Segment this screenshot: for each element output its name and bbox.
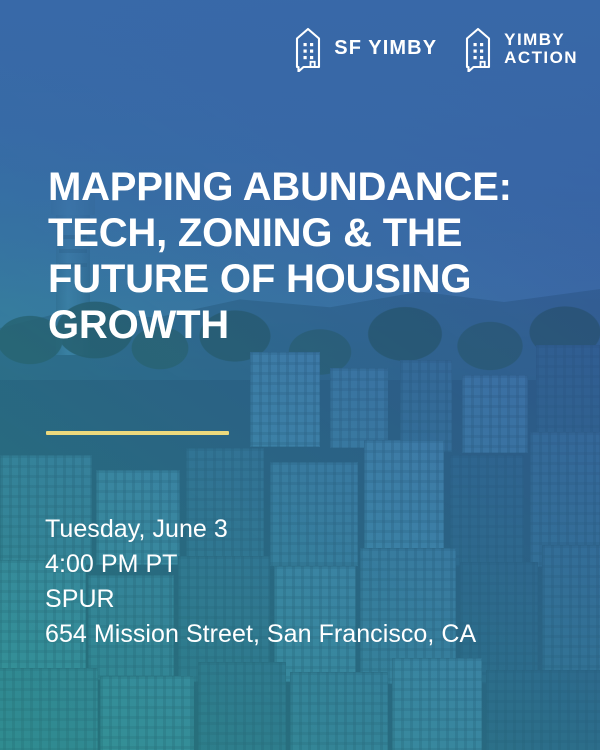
event-address: 654 Mission Street, San Francisco, CA <box>45 617 476 652</box>
event-venue: SPUR <box>45 582 476 617</box>
event-details: Tuesday, June 3 4:00 PM PT SPUR 654 Miss… <box>45 512 476 652</box>
title-line-3: FUTURE OF HOUSING <box>48 256 568 302</box>
yimby-building-speech-bubble-icon <box>293 26 323 72</box>
poster-title: MAPPING ABUNDANCE: TECH, ZONING & THE FU… <box>48 164 568 348</box>
event-poster: SF YIMBY YIMBY <box>0 0 600 750</box>
title-line-4: GROWTH <box>48 302 568 348</box>
title-line-1: MAPPING ABUNDANCE: <box>48 164 568 210</box>
sf-yimby-logo[interactable]: SF YIMBY <box>293 26 437 72</box>
accent-divider <box>46 431 229 435</box>
event-date: Tuesday, June 3 <box>45 512 476 547</box>
yimby-building-speech-bubble-icon <box>463 26 493 72</box>
yimby-action-line2: ACTION <box>504 49 578 67</box>
yimby-action-wordmark: YIMBY ACTION <box>504 31 578 68</box>
sf-yimby-wordmark: SF YIMBY <box>334 38 437 60</box>
logo-row: SF YIMBY YIMBY <box>293 26 578 72</box>
title-line-2: TECH, ZONING & THE <box>48 210 568 256</box>
yimby-action-logo[interactable]: YIMBY ACTION <box>463 26 578 72</box>
yimby-action-line1: YIMBY <box>504 31 578 49</box>
event-time: 4:00 PM PT <box>45 547 476 582</box>
